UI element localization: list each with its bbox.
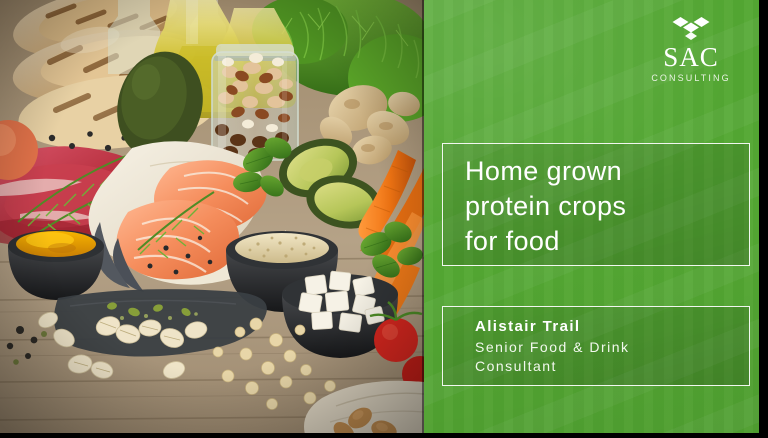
logo-tagline: CONSULTING (632, 72, 750, 84)
slide-bottom-border (0, 433, 768, 438)
photo-panel-seam (422, 0, 424, 438)
title-slide: SAC CONSULTING Home grown protein crops … (0, 0, 768, 438)
logo-wordmark: SAC (632, 43, 750, 71)
author-name: Alistair Trail (475, 317, 735, 337)
author-role: Senior Food & Drink Consultant (475, 338, 735, 376)
title-frame: Home grown protein crops for food (442, 143, 750, 266)
green-content-panel: SAC CONSULTING Home grown protein crops … (424, 0, 768, 438)
slide-right-border (759, 0, 768, 438)
sac-diamond-mark-icon (670, 16, 712, 40)
sac-consulting-logo: SAC CONSULTING (632, 16, 750, 84)
author-frame: Alistair Trail Senior Food & Drink Consu… (442, 306, 750, 386)
slide-title: Home grown protein crops for food (465, 154, 735, 259)
food-photograph (0, 0, 424, 438)
